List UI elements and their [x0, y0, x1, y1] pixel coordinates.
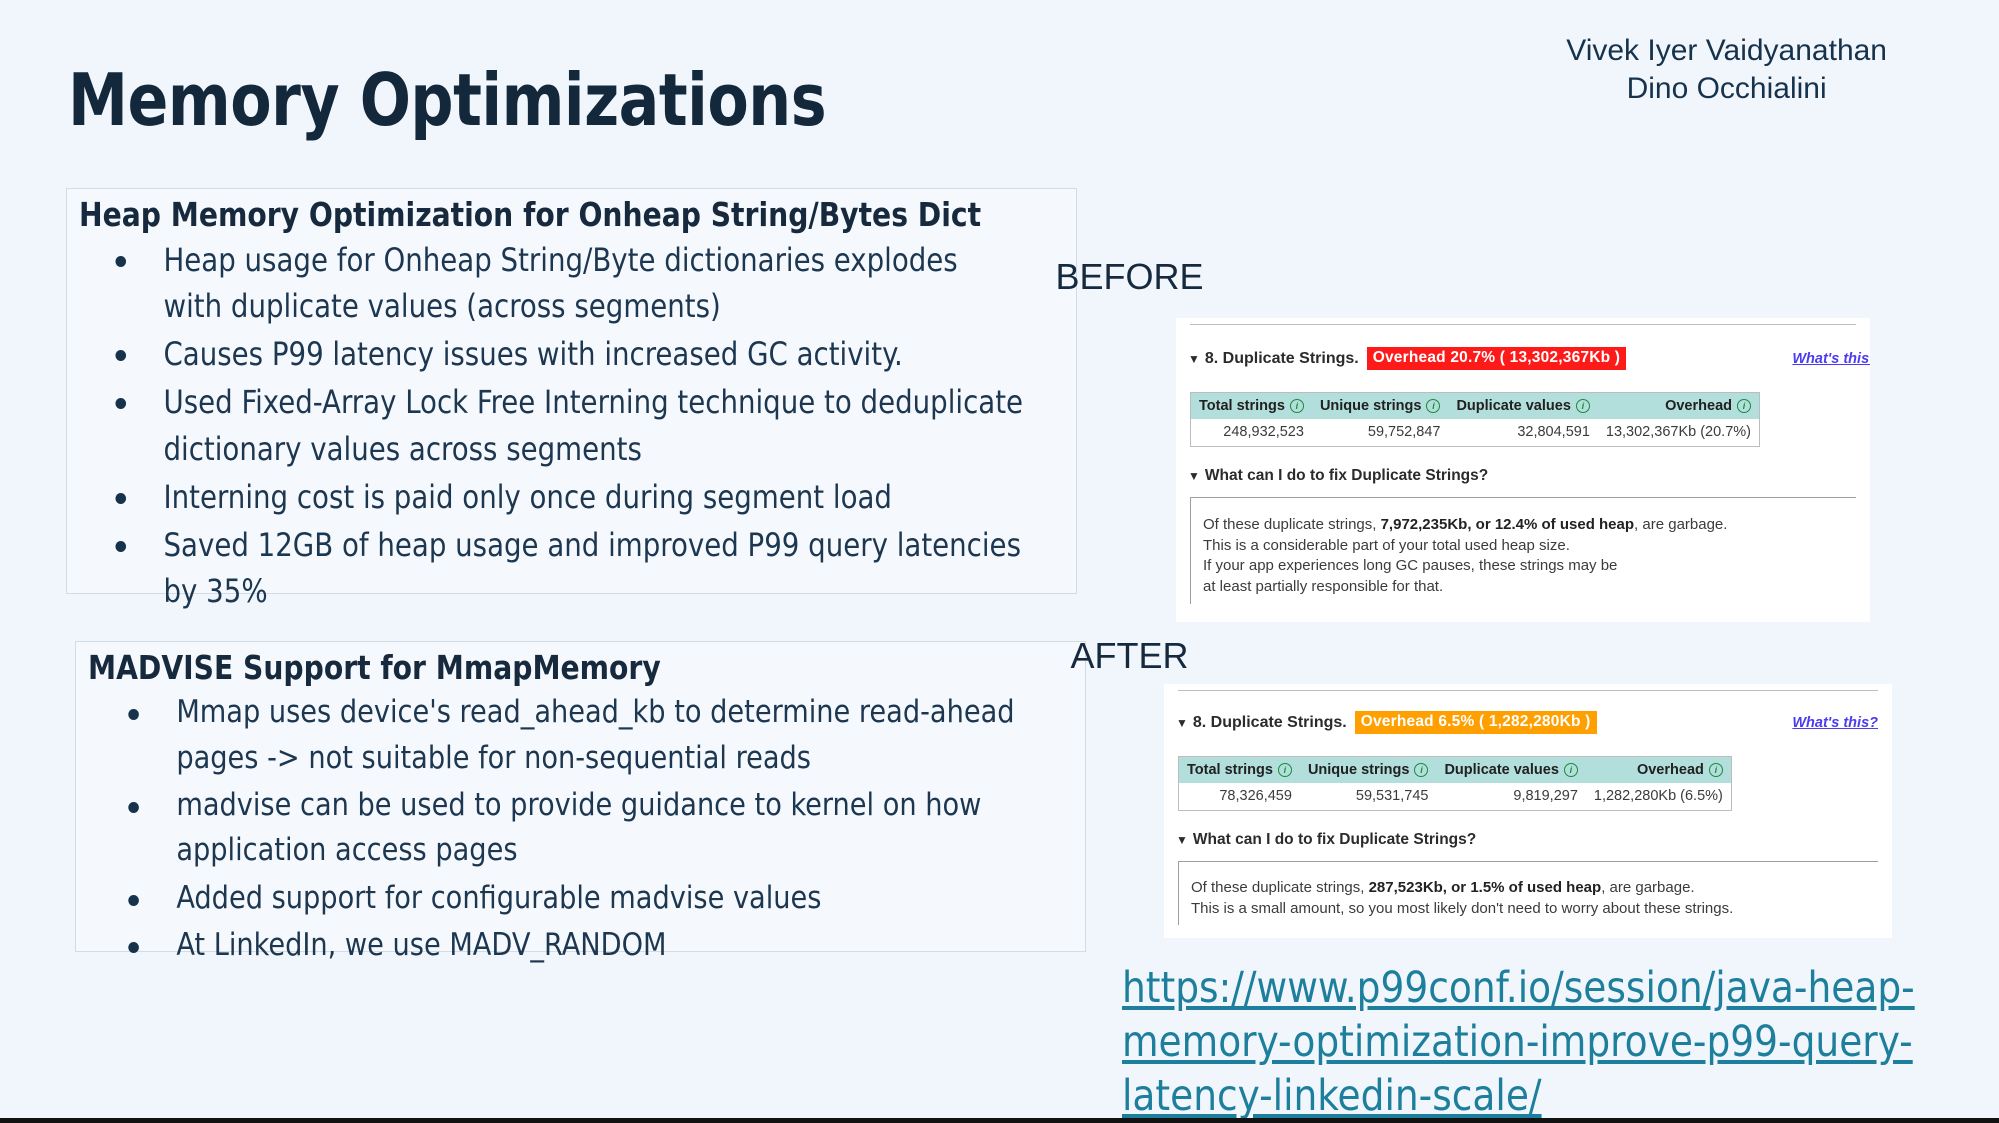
sub-header-label: What can I do to fix Duplicate Strings?: [1205, 467, 1488, 485]
advice-line: This is a small amount, so you most like…: [1191, 899, 1878, 920]
list-item: Mmap uses device's read_ahead_kb to dete…: [88, 690, 1034, 781]
column-header-total-strings: Total stringsi: [1191, 393, 1312, 420]
info-icon[interactable]: i: [1414, 763, 1428, 777]
advice-line: at least partially responsible for that.: [1203, 577, 1856, 598]
table-row: 78,326,459 59,531,745 9,819,297 1,282,28…: [1179, 783, 1732, 811]
caption-before: BEFORE: [0, 256, 1999, 298]
screenshot-after: ▼ 8. Duplicate Strings. Overhead 6.5% ( …: [1164, 684, 1892, 938]
chevron-down-icon[interactable]: ▼: [1176, 716, 1188, 730]
authors-block: Vivek Iyer Vaidyanathan Dino Occhialini: [1566, 32, 1887, 109]
column-header-overhead: Overheadi: [1586, 757, 1731, 784]
status-badge: Overhead 20.7% ( 13,302,367Kb ): [1367, 347, 1626, 370]
info-icon[interactable]: i: [1576, 399, 1590, 413]
box-heading: Heap Memory Optimization for Onheap Stri…: [79, 195, 1015, 235]
table-row: 248,932,523 59,752,847 32,804,591 13,302…: [1191, 419, 1760, 447]
column-header-duplicate-values: Duplicate valuesi: [1448, 393, 1597, 420]
cell-unique-strings: 59,752,847: [1312, 419, 1449, 447]
fix-duplicate-strings-header[interactable]: ▼ What can I do to fix Duplicate Strings…: [1188, 467, 1870, 485]
cell-overhead: 1,282,280Kb (6.5%): [1586, 783, 1731, 811]
duplicate-strings-table: Total stringsi Unique stringsi Duplicate…: [1190, 392, 1760, 447]
sub-header-label: What can I do to fix Duplicate Strings?: [1193, 831, 1476, 849]
table-header-row: Total stringsi Unique stringsi Duplicate…: [1179, 757, 1732, 784]
caption-after-label: AFTER: [810, 635, 1188, 677]
list-item: At LinkedIn, we use MADV_RANDOM: [88, 923, 1034, 968]
column-header-unique-strings: Unique stringsi: [1312, 393, 1449, 420]
info-icon[interactable]: i: [1564, 763, 1578, 777]
duplicate-strings-section-header[interactable]: ▼ 8. Duplicate Strings. Overhead 20.7% (…: [1188, 347, 1870, 370]
list-item: Interning cost is paid only once during …: [79, 474, 1025, 520]
advice-line: Of these duplicate strings, 287,523Kb, o…: [1191, 878, 1878, 899]
column-header-duplicate-values: Duplicate valuesi: [1436, 757, 1585, 784]
cell-duplicate-values: 32,804,591: [1448, 419, 1597, 447]
advice-line: This is a considerable part of your tota…: [1203, 536, 1856, 557]
cell-overhead: 13,302,367Kb (20.7%): [1598, 419, 1760, 447]
column-header-total-strings: Total stringsi: [1179, 757, 1300, 784]
caption-before-label: BEFORE: [795, 256, 1203, 298]
cell-total-strings: 248,932,523: [1191, 419, 1312, 447]
list-item: Used Fixed-Array Lock Free Interning tec…: [79, 379, 1025, 471]
cell-total-strings: 78,326,459: [1179, 783, 1300, 811]
info-icon[interactable]: i: [1737, 399, 1751, 413]
session-link[interactable]: https://www.p99conf.io/session/java-heap…: [1122, 962, 1917, 1123]
author-name-1: Vivek Iyer Vaidyanathan: [1566, 32, 1887, 70]
caption-after: AFTER: [0, 635, 1999, 677]
advice-line: If your app experiences long GC pauses, …: [1203, 556, 1856, 577]
page-title: Memory Optimizations: [68, 58, 826, 142]
section-title: 8. Duplicate Strings.: [1205, 350, 1359, 368]
bottom-strip: [0, 1118, 1999, 1123]
content-box-madvise-support: MADVISE Support for MmapMemory Mmap uses…: [75, 641, 1086, 952]
column-header-unique-strings: Unique stringsi: [1300, 757, 1437, 784]
chevron-down-icon[interactable]: ▼: [1188, 469, 1200, 483]
content-box-heap-memory: Heap Memory Optimization for Onheap Stri…: [66, 188, 1077, 594]
info-icon[interactable]: i: [1426, 399, 1440, 413]
chevron-down-icon[interactable]: ▼: [1176, 833, 1188, 847]
author-name-2: Dino Occhialini: [1566, 70, 1887, 108]
section-title: 8. Duplicate Strings.: [1193, 714, 1347, 732]
divider: [1190, 324, 1856, 325]
fix-duplicate-strings-header[interactable]: ▼ What can I do to fix Duplicate Strings…: [1176, 831, 1892, 849]
list-item: Saved 12GB of heap usage and improved P9…: [79, 522, 1025, 614]
advice-text-block: Of these duplicate strings, 287,523Kb, o…: [1178, 861, 1878, 925]
cell-unique-strings: 59,531,745: [1300, 783, 1437, 811]
chevron-down-icon[interactable]: ▼: [1188, 352, 1200, 366]
whats-this-link[interactable]: What's this?: [1792, 715, 1878, 731]
list-item: Causes P99 latency issues with increased…: [79, 331, 1025, 377]
advice-text-block: Of these duplicate strings, 7,972,235Kb,…: [1190, 497, 1856, 604]
column-header-overhead: Overheadi: [1598, 393, 1760, 420]
list-item: Added support for configurable madvise v…: [88, 876, 1034, 921]
info-icon[interactable]: i: [1709, 763, 1723, 777]
divider: [1178, 690, 1878, 691]
duplicate-strings-table: Total stringsi Unique stringsi Duplicate…: [1178, 756, 1732, 811]
cell-duplicate-values: 9,819,297: [1436, 783, 1585, 811]
duplicate-strings-section-header[interactable]: ▼ 8. Duplicate Strings. Overhead 6.5% ( …: [1176, 711, 1892, 734]
status-badge: Overhead 6.5% ( 1,282,280Kb ): [1355, 711, 1597, 734]
bullet-list: Mmap uses device's read_ahead_kb to dete…: [88, 690, 1073, 968]
screenshot-before: ▼ 8. Duplicate Strings. Overhead 20.7% (…: [1176, 318, 1870, 622]
table-header-row: Total stringsi Unique stringsi Duplicate…: [1191, 393, 1760, 420]
info-icon[interactable]: i: [1290, 399, 1304, 413]
list-item: madvise can be used to provide guidance …: [88, 783, 1034, 874]
advice-line: Of these duplicate strings, 7,972,235Kb,…: [1203, 515, 1856, 536]
whats-this-link[interactable]: What's this?: [1792, 351, 1870, 367]
info-icon[interactable]: i: [1278, 763, 1292, 777]
